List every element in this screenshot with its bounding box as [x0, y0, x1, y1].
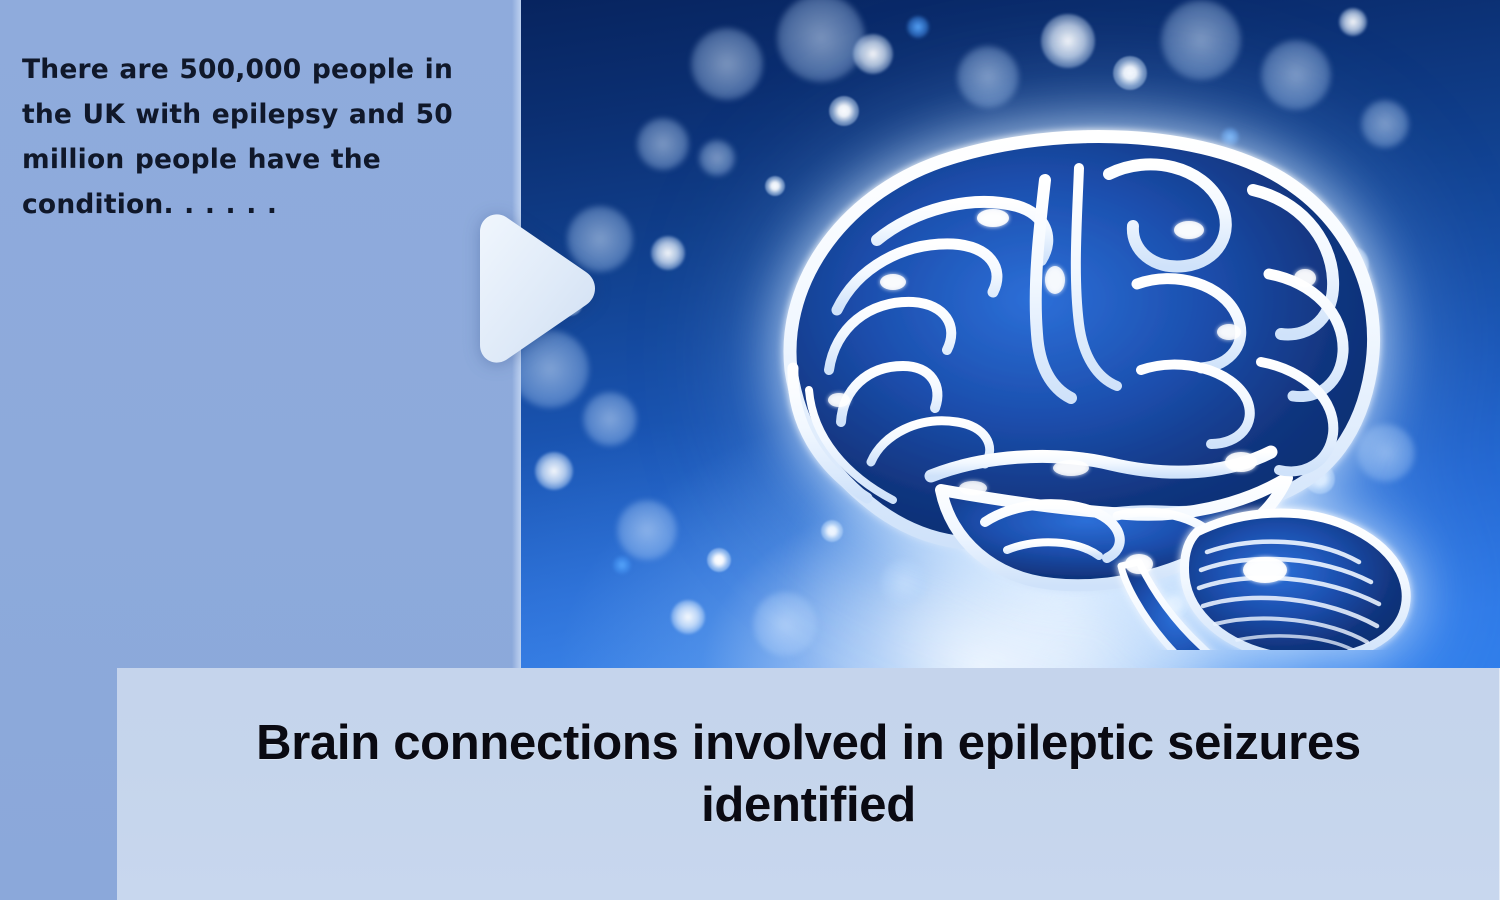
headline-bar: Brain connections involved in epileptic … [117, 668, 1500, 900]
slide-canvas: There are 500,000 people in the UK with … [0, 0, 1500, 900]
play-button[interactable] [462, 210, 598, 367]
play-triangle-icon [480, 214, 595, 362]
page-title: Brain connections involved in epileptic … [149, 712, 1469, 836]
brain-illustration [641, 70, 1441, 650]
statistic-quote-text: There are 500,000 people in the UK with … [22, 47, 492, 227]
